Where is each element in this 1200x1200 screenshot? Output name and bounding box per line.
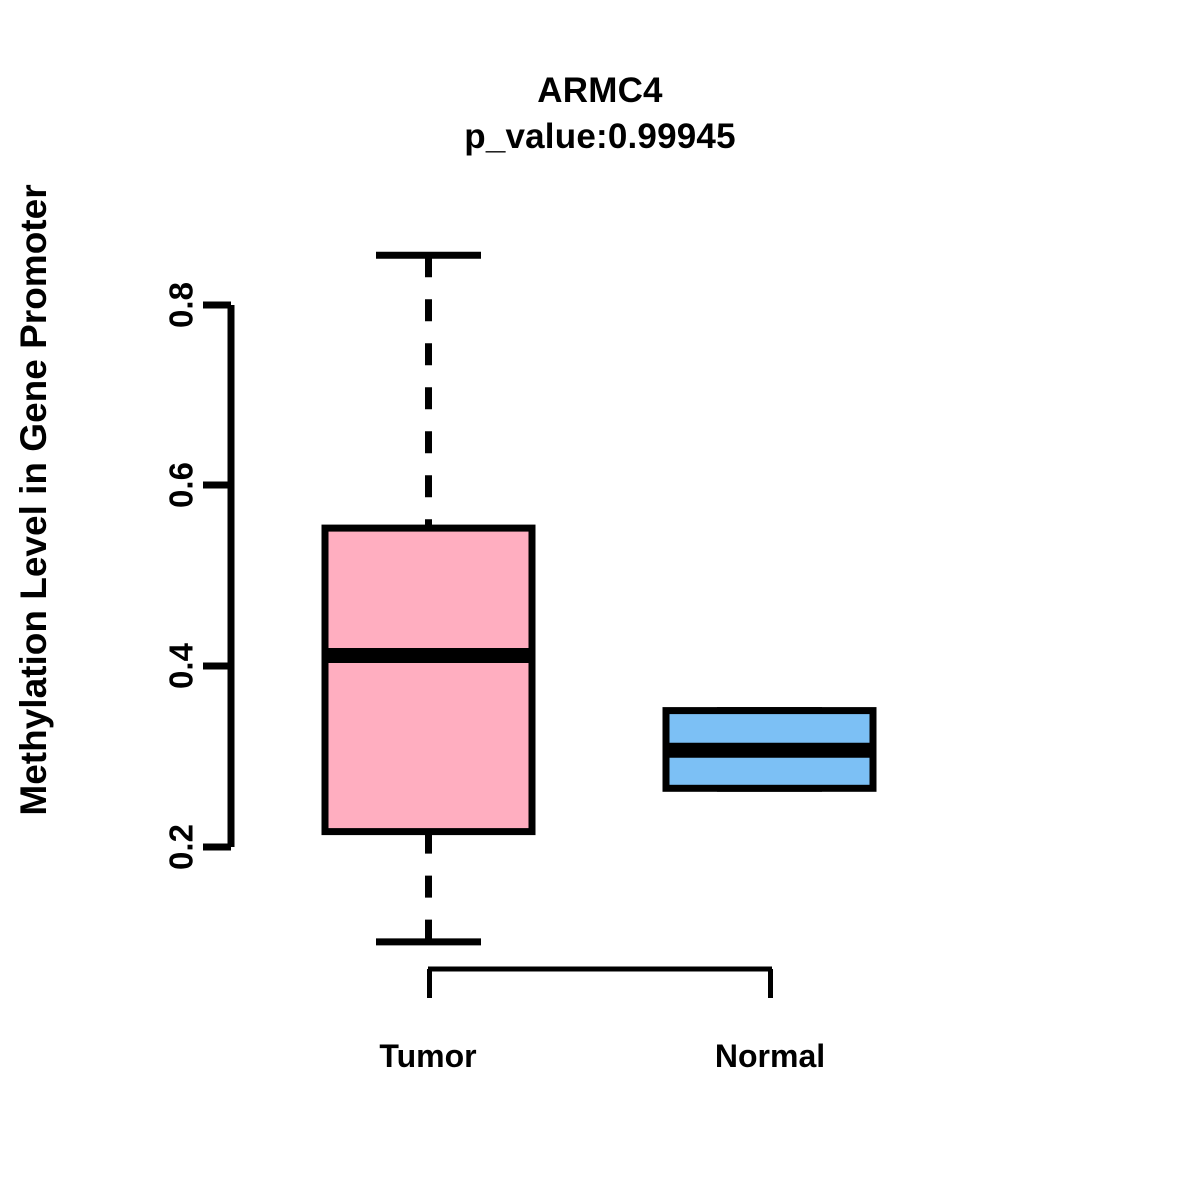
box-normal[interactable] <box>663 711 876 789</box>
y-tick-label-0.8: 0.8 <box>163 282 200 328</box>
x-axis: Tumor Normal <box>379 969 825 1074</box>
x-tick-label-tumor: Tumor <box>379 1038 476 1074</box>
tumor-iqr-box[interactable] <box>325 528 532 832</box>
y-tick-label-0.4: 0.4 <box>163 642 200 689</box>
box-tumor[interactable] <box>322 255 535 942</box>
y-tick-label-0.6: 0.6 <box>163 462 200 508</box>
plot-canvas: 0.2 0.4 0.6 0.8 <box>0 0 1200 1200</box>
y-axis: 0.2 0.4 0.6 0.8 <box>163 282 231 870</box>
y-tick-label-0.2: 0.2 <box>163 824 200 870</box>
boxplot-figure: ARMC4 p_value:0.99945 Methylation Level … <box>0 0 1200 1200</box>
x-tick-label-normal: Normal <box>715 1038 825 1074</box>
